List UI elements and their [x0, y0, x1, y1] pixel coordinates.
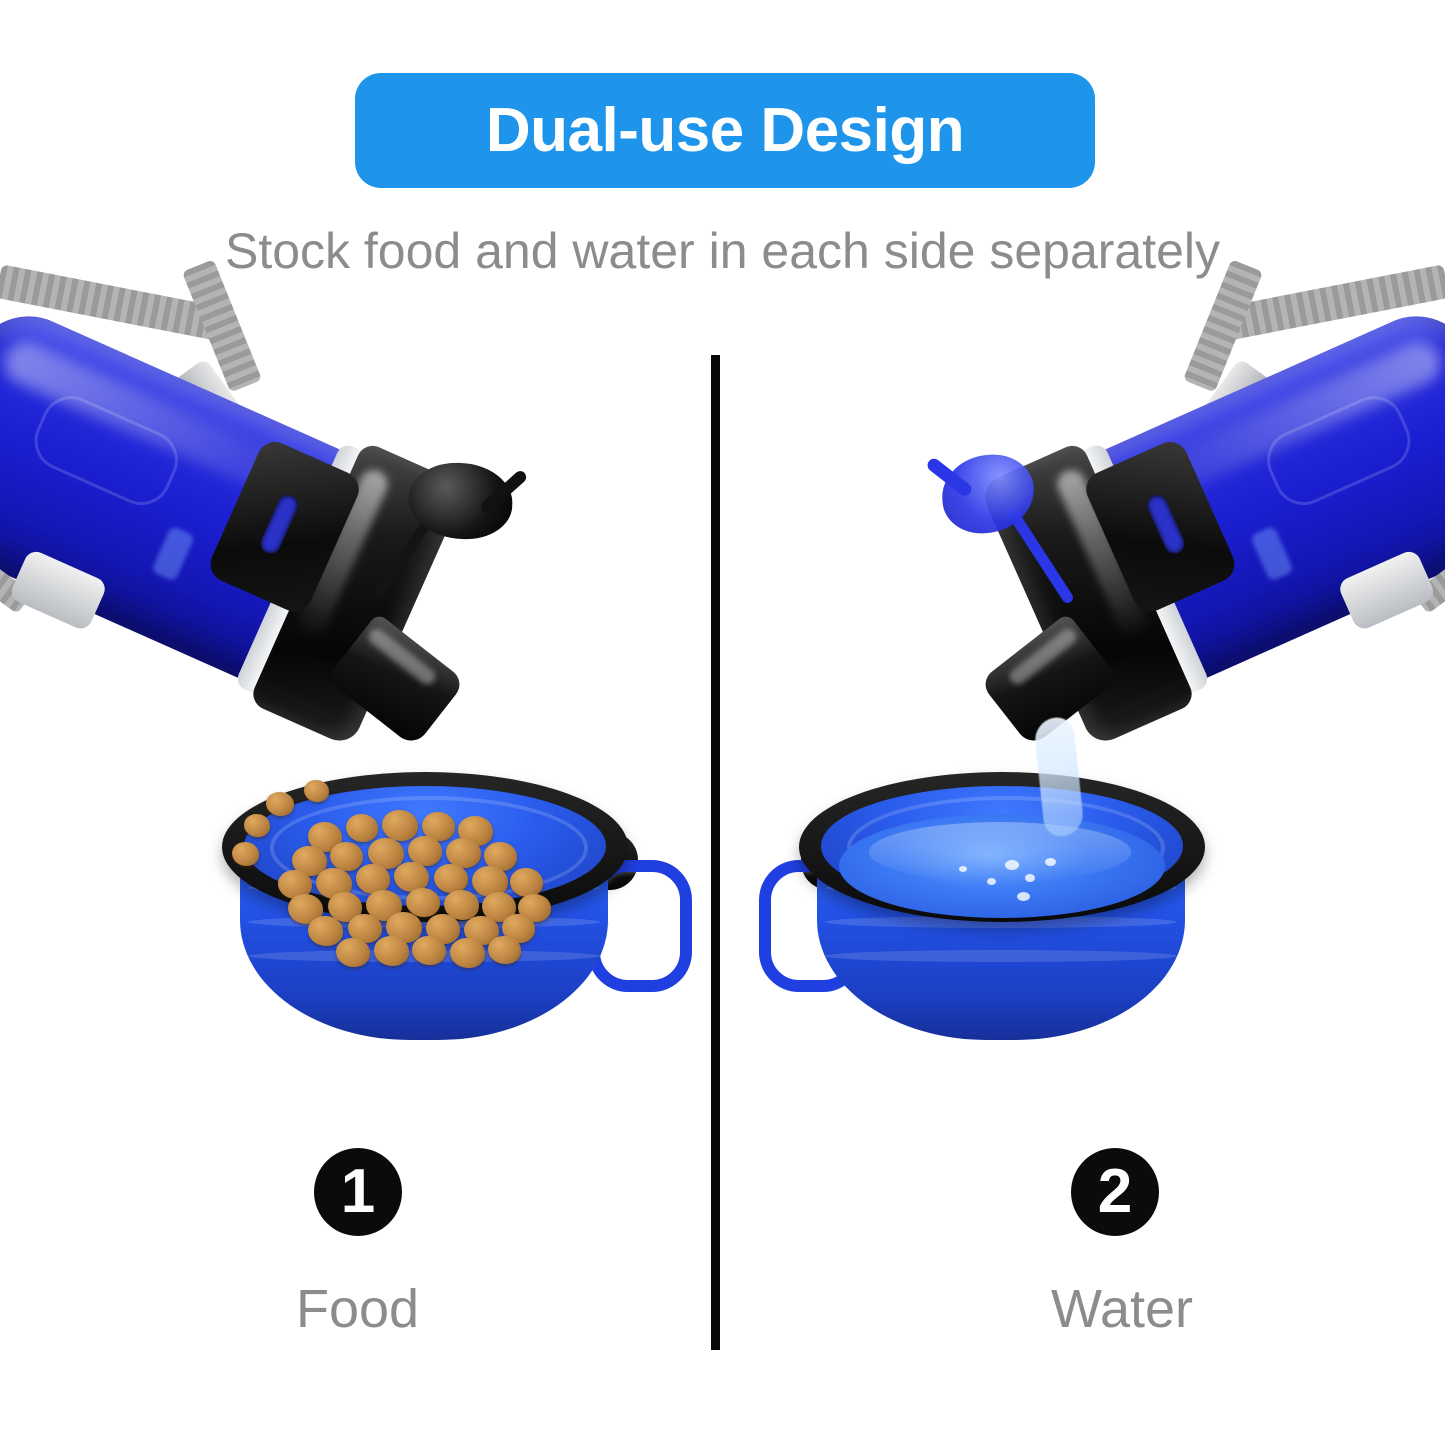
food-scene-illustration — [0, 330, 712, 1130]
kibble-piece — [510, 868, 543, 897]
step-badge-1: 1 — [314, 1148, 402, 1236]
page-title: Dual-use Design — [486, 100, 964, 162]
kibble-falling — [304, 780, 329, 802]
step-caption-water: Water — [1051, 1278, 1193, 1340]
water-splash — [1025, 874, 1035, 882]
collapsible-bowl-water — [773, 710, 1243, 1090]
kibble-piece — [346, 814, 378, 842]
kibble-piece — [412, 936, 446, 965]
kibble-piece — [450, 938, 485, 968]
panel-food — [0, 330, 712, 1130]
kibble-piece — [308, 916, 343, 946]
water-splash — [959, 866, 967, 872]
title-banner: Dual-use Design — [355, 73, 1095, 188]
kibble-falling — [232, 842, 259, 866]
panel-water — [733, 330, 1445, 1130]
bowl-ridge — [825, 950, 1177, 962]
kibble-falling — [266, 792, 294, 816]
kibble-piece — [488, 936, 521, 964]
water-scene-illustration — [733, 330, 1445, 1130]
kibble-piece — [382, 810, 418, 841]
kibble-piece — [374, 936, 409, 966]
water-splash — [1045, 858, 1056, 866]
collapsible-bowl-food — [196, 710, 666, 1090]
kibble-piece — [434, 864, 468, 893]
step-badge-2: 2 — [1071, 1148, 1159, 1236]
water-splash — [987, 878, 996, 885]
water-splash — [1017, 892, 1030, 901]
kibble-piece — [330, 842, 363, 871]
water-splash — [1005, 860, 1019, 870]
step-badge-2-number: 2 — [1098, 1161, 1132, 1223]
panel-divider — [711, 355, 720, 1350]
water-surface-highlight — [869, 822, 1131, 882]
kibble-falling — [244, 814, 270, 837]
kibble-piece — [336, 938, 370, 967]
step-caption-food: Food — [296, 1278, 419, 1340]
step-badge-1-number: 1 — [341, 1161, 375, 1223]
